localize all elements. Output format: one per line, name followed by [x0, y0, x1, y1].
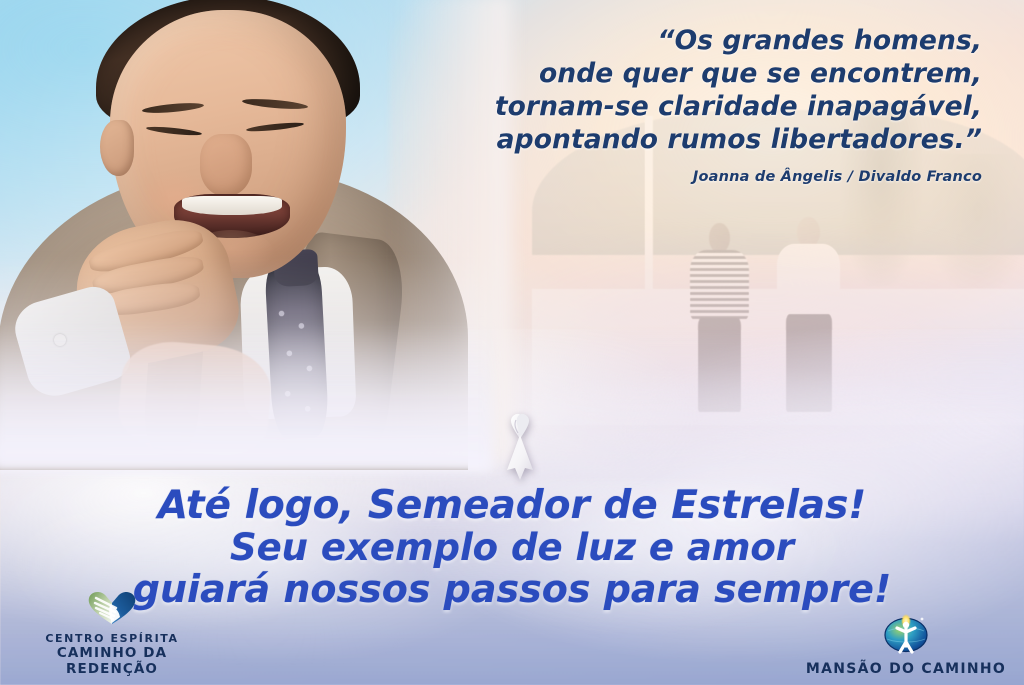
heart-hands-logo-icon	[14, 589, 210, 629]
memorial-poster: “Os grandes homens, onde quer que se enc…	[0, 0, 1024, 685]
photo-person-head	[709, 223, 730, 253]
photo-person-torso	[777, 244, 840, 318]
logo-centro-espirita-caminho-da-redencao: CENTRO ESPÍRITA CAMINHO DA REDENÇÃO	[14, 589, 210, 677]
portrait-jacket-fade	[0, 322, 492, 472]
photo-person-torso	[690, 250, 749, 322]
headline-line-2: Seu exemplo de luz e amor	[0, 529, 1024, 567]
portrait-ear	[100, 120, 134, 176]
logo-left-line-1: CENTRO ESPÍRITA	[14, 632, 210, 645]
logo-mansao-do-caminho: MANSÃO DO CAMINHO	[798, 612, 1014, 677]
quote-line-3: tornam-se claridade inapagável,	[390, 90, 982, 123]
quote-line-1: “Os grandes homens,	[390, 24, 982, 57]
headline-line-1: Até logo, Semeador de Estrelas!	[0, 486, 1024, 526]
quote-line-4: apontando rumos libertadores.”	[390, 123, 982, 156]
quote-line-2: onde quer que se encontrem,	[390, 57, 982, 90]
logo-left-line-2: CAMINHO DA REDENÇÃO	[14, 645, 210, 677]
quote-block: “Os grandes homens, onde quer que se enc…	[390, 24, 982, 185]
portrait-teeth	[182, 196, 282, 215]
logo-right-line-2: MANSÃO DO CAMINHO	[798, 661, 1014, 677]
quote-attribution: Joanna de Ângelis / Divaldo Franco	[390, 169, 982, 185]
globe-figure-logo-icon	[798, 612, 1014, 658]
white-mourning-ribbon-icon	[487, 412, 553, 484]
